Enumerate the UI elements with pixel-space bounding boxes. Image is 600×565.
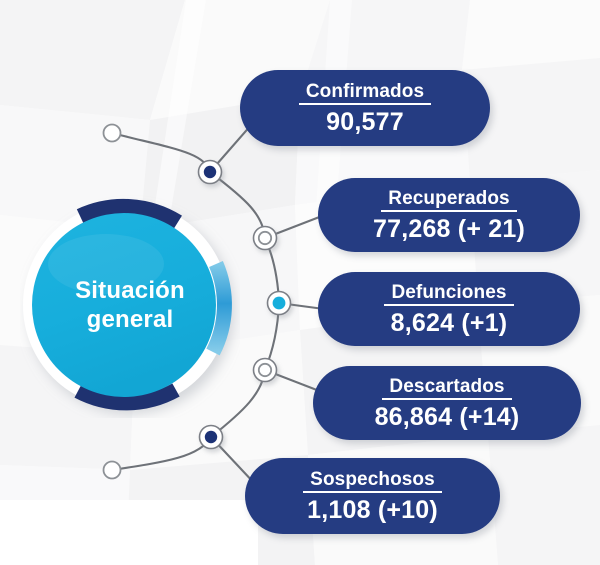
metric-pill-confirmados[interactable]: Confirmados 90,577 [240, 70, 490, 146]
node-marker-1 [254, 227, 277, 250]
metric-value: 8,624 (+1) [391, 309, 508, 337]
endpoint-circle-bottom [104, 462, 121, 479]
central-hub: Situación general [20, 192, 240, 418]
metric-label: Descartados [382, 377, 511, 401]
spine-curve-bottom [112, 437, 211, 470]
metric-pill-defunciones[interactable]: Defunciones 8,624 (+1) [318, 272, 580, 346]
metric-value: 77,268 (+ 21) [373, 215, 525, 243]
hub-graphic [20, 192, 240, 418]
metric-pill-descartados[interactable]: Descartados 86,864 (+14) [313, 366, 581, 440]
metric-label: Recuperados [381, 189, 516, 213]
node-marker-2 [268, 292, 291, 315]
node-marker-0 [199, 161, 222, 184]
metric-label: Defunciones [384, 283, 513, 307]
metric-pill-sospechosos[interactable]: Sospechosos 1,108 (+10) [245, 458, 500, 534]
endpoint-circle-top [104, 125, 121, 142]
metric-label: Sospechosos [303, 470, 442, 494]
metric-label: Confirmados [299, 82, 431, 106]
node-marker-3 [254, 359, 277, 382]
metric-value: 90,577 [326, 108, 404, 136]
infographic-canvas: Situación general Confirmados 90,577 Rec… [0, 0, 600, 565]
node-marker-4 [200, 426, 223, 449]
metric-pill-recuperados[interactable]: Recuperados 77,268 (+ 21) [318, 178, 580, 252]
spine-curve-upper [112, 133, 210, 172]
metric-value: 1,108 (+10) [307, 496, 438, 524]
metric-value: 86,864 (+14) [375, 403, 520, 431]
